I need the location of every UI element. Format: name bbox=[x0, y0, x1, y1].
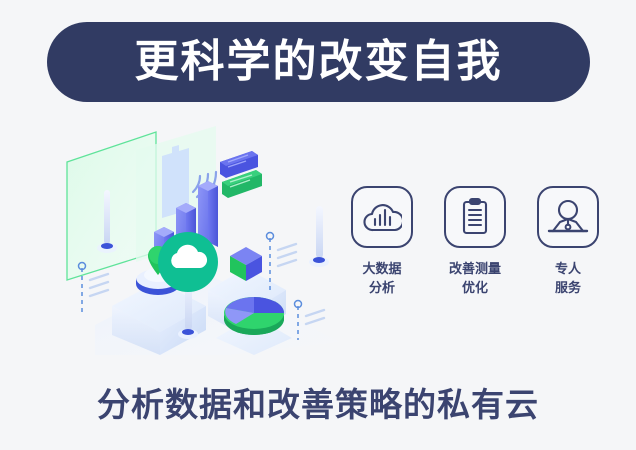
feature-label-service: 专人 服务 bbox=[555, 261, 581, 299]
dashed-connector-center bbox=[267, 233, 297, 291]
feature-icon-frame-big-data bbox=[351, 186, 413, 248]
feature-item-measurement[interactable]: 改善测量 优化 bbox=[438, 186, 512, 299]
tagline: 分析数据和改善策略的私有云 bbox=[0, 385, 636, 425]
feature-label-line2: 分析 bbox=[369, 281, 395, 296]
poster-canvas: 更科学的改变自我 bbox=[0, 0, 636, 450]
feature-icon-frame-service bbox=[537, 186, 599, 248]
feature-item-service[interactable]: 专人 服务 bbox=[531, 186, 605, 299]
feature-label-line1: 专人 bbox=[555, 262, 581, 277]
page-title: 更科学的改变自我 bbox=[135, 40, 503, 84]
feature-label-line1: 改善测量 bbox=[449, 262, 501, 277]
cloud-bar-chart-icon bbox=[362, 199, 402, 235]
illustration-area bbox=[40, 120, 340, 355]
header-banner: 更科学的改变自我 bbox=[47, 22, 590, 102]
clipboard-icon bbox=[458, 197, 492, 237]
pie-chart-3d bbox=[224, 297, 284, 335]
probe-rod-right bbox=[309, 206, 329, 267]
feature-label-measurement: 改善测量 优化 bbox=[449, 261, 501, 299]
feature-item-big-data[interactable]: 大数据 分析 bbox=[345, 186, 419, 299]
feature-label-line1: 大数据 bbox=[362, 262, 401, 277]
isometric-illustration bbox=[40, 120, 340, 355]
feature-list: 大数据 分析 改善测量 优化 bbox=[345, 186, 605, 299]
feature-label-big-data: 大数据 分析 bbox=[362, 261, 401, 299]
feature-label-line2: 优化 bbox=[462, 281, 488, 296]
feature-label-line2: 服务 bbox=[555, 281, 581, 296]
feature-icon-frame-measurement bbox=[444, 186, 506, 248]
service-person-icon bbox=[547, 198, 589, 236]
